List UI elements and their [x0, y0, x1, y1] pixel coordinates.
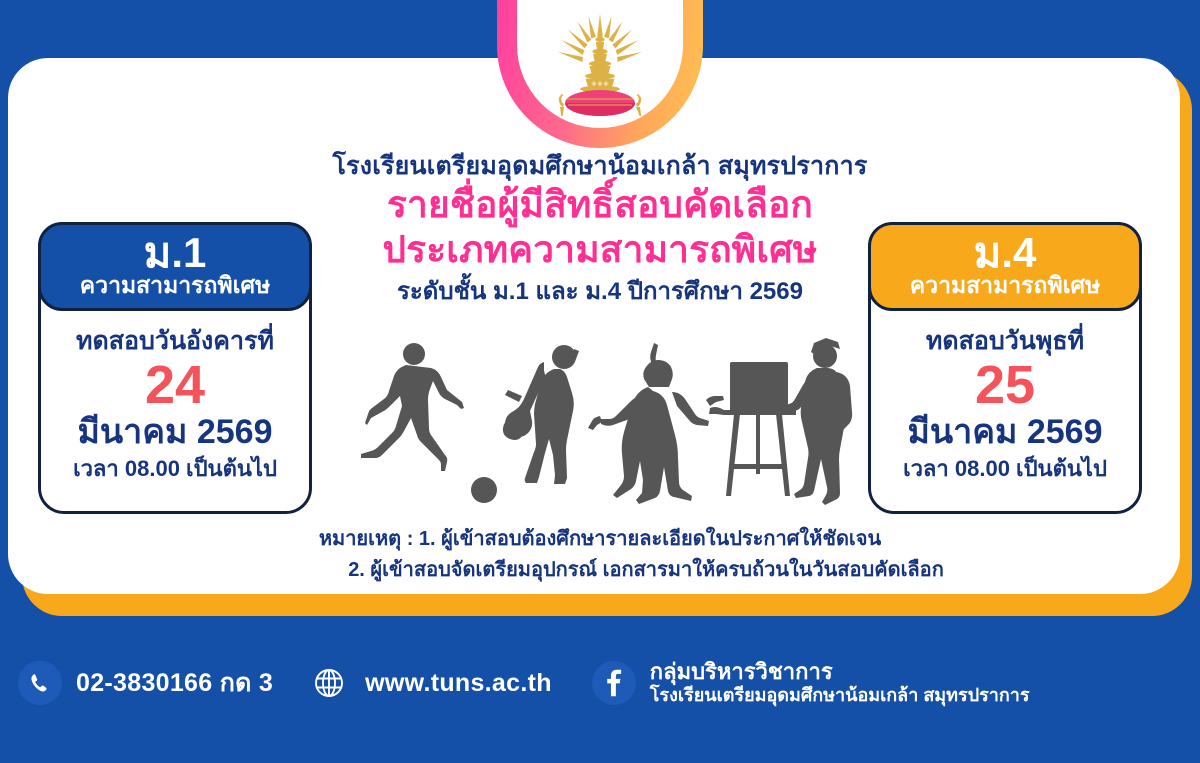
footer-facebook-line-1: กลุ่มบริหารวิชาการ	[650, 659, 833, 684]
date-card-m4-body: ทดสอบวันพุธที่ 25 มีนาคม 2569 เวลา 08.00…	[871, 311, 1139, 482]
footer-facebook-text: กลุ่มบริหารวิชาการ โรงเรียนเตรียมอุดมศึก…	[650, 659, 1030, 707]
emblem-container	[497, 0, 703, 148]
date-card-m4-day: 25	[871, 358, 1139, 412]
date-card-m1-grade: ม.1	[41, 231, 309, 275]
date-card-m1-weekday: ทดสอบวันอังคารที่	[41, 327, 309, 356]
note-line-1: หมายเหตุ : 1. ผู้เข้าสอบต้องศึกษารายละเอ…	[0, 524, 1200, 555]
date-card-m1-category: ความสามารถพิเศษ	[41, 273, 309, 298]
footer-website[interactable]: www.tuns.ac.th	[307, 661, 552, 705]
thai-dancer-silhouette	[588, 343, 726, 504]
date-card-m1-body: ทดสอบวันอังคารที่ 24 มีนาคม 2569 เวลา 08…	[41, 311, 309, 482]
emblem-inner-white	[517, 0, 683, 128]
date-card-m4-time: เวลา 08.00 เป็นต้นไป	[871, 456, 1139, 482]
footer-website-text: www.tuns.ac.th	[365, 669, 552, 698]
date-card-m4-month-year: มีนาคม 2569	[871, 414, 1139, 451]
date-card-m1-header: ม.1 ความสามารถพิเศษ	[38, 222, 312, 311]
soccer-player-silhouette	[361, 343, 497, 503]
date-card-m1-month-year: มีนาคม 2569	[41, 414, 309, 451]
saxophone-player-silhouette	[503, 345, 579, 484]
phone-icon	[18, 661, 62, 705]
date-card-m4-category: ความสามารถพิเศษ	[871, 273, 1139, 298]
footer-facebook[interactable]: กลุ่มบริหารวิชาการ โรงเรียนเตรียมอุดมศึก…	[592, 659, 1030, 707]
date-card-m1: ม.1 ความสามารถพิเศษ ทดสอบวันอังคารที่ 24…	[38, 222, 312, 514]
footer-phone-text: 02-3830166 กด 3	[76, 663, 273, 703]
footer-facebook-line-2: โรงเรียนเตรียมอุดมศึกษาน้อมเกล้า สมุทรปร…	[650, 685, 1030, 705]
date-card-m4: ม.4 ความสามารถพิเศษ ทดสอบวันพุธที่ 25 มี…	[868, 222, 1142, 514]
talent-silhouettes-group	[336, 332, 856, 512]
note-line-2: 2. ผู้เข้าสอบจัดเตรียมอุปกรณ์ เอกสารมาให…	[0, 555, 1200, 586]
announcement-title-line-1: รายชื่อผู้มีสิทธิ์สอบคัดเลือก	[0, 184, 1200, 225]
date-card-m1-time: เวลา 08.00 เป็นต้นไป	[41, 456, 309, 482]
painter-easel-silhouette	[724, 338, 852, 505]
date-card-m1-day: 24	[41, 358, 309, 412]
facebook-icon	[592, 661, 636, 705]
date-card-m4-header: ม.4 ความสามารถพิเศษ	[868, 222, 1142, 311]
notes-block: หมายเหตุ : 1. ผู้เข้าสอบต้องศึกษารายละเอ…	[0, 524, 1200, 586]
globe-icon	[307, 661, 351, 705]
date-card-m4-weekday: ทดสอบวันพุธที่	[871, 327, 1139, 356]
contact-footer: 02-3830166 กด 3 www.tuns.ac.th กลุ่มบริห…	[0, 628, 1200, 738]
date-card-m4-grade: ม.4	[871, 231, 1139, 275]
footer-phone[interactable]: 02-3830166 กด 3	[18, 661, 273, 705]
school-name: โรงเรียนเตรียมอุดมศึกษาน้อมเกล้า สมุทรปร…	[0, 152, 1200, 180]
school-crown-emblem-icon	[540, 6, 660, 128]
